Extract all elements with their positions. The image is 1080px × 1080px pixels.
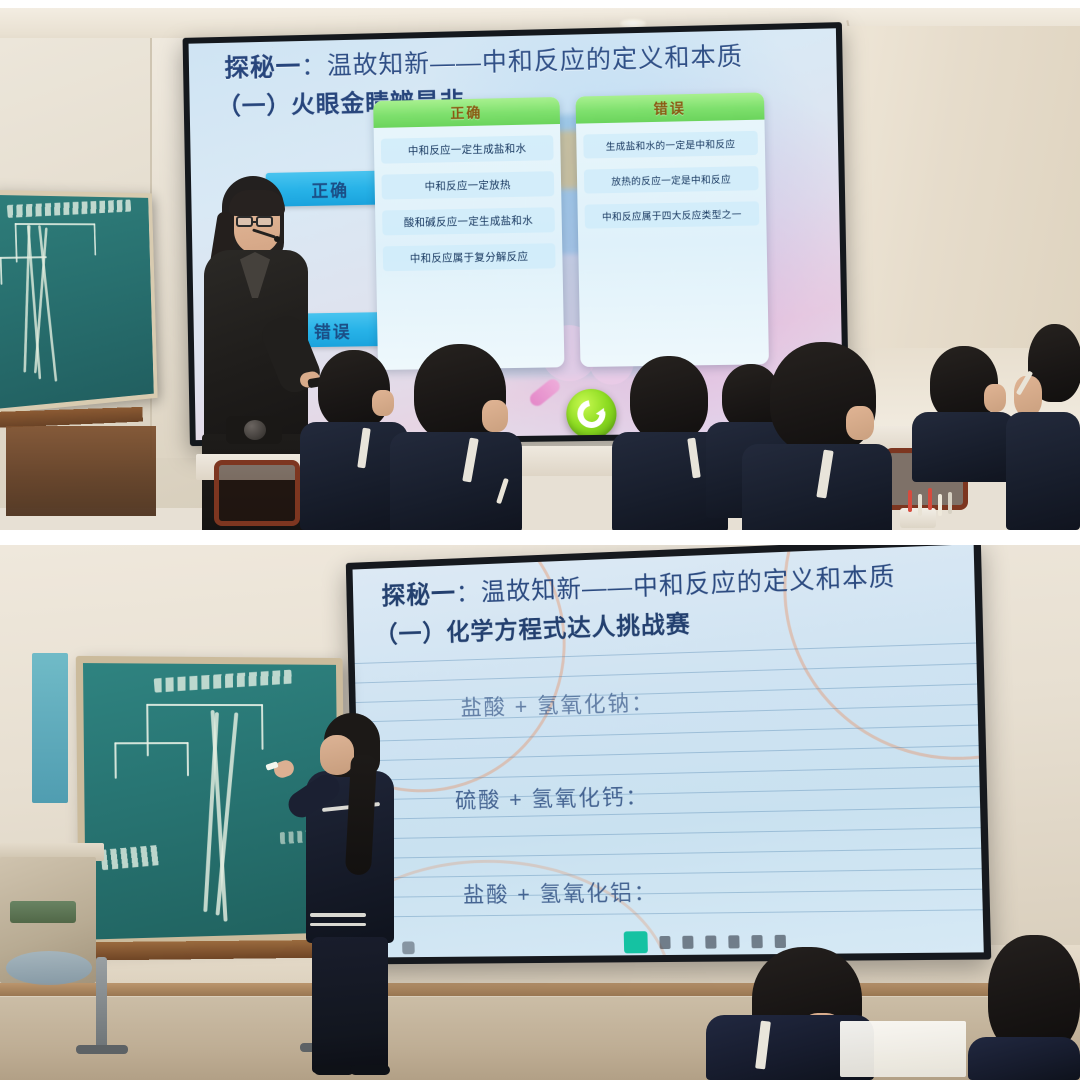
student-head [630,356,708,442]
microphone-tip [274,236,280,242]
basin [6,951,92,985]
panel-item[interactable]: 中和反应属于四大反应类型之一 [585,201,760,228]
baseboard [0,983,1080,996]
chalk-line [146,704,263,706]
student-shoe [314,1065,354,1075]
student-shoe [350,1065,390,1075]
chalk-label [101,845,161,870]
pen-tool-icon[interactable] [659,935,670,948]
student-at-board [292,713,410,1073]
photo-top-classroom: 探秘一：温故知新——中和反应的定义和本质 （一）火眼金睛辨是非 正确 错误 正确… [0,8,1080,530]
slide-canvas: 探秘一：温故知新——中和反应的定义和本质 （一）化学方程式达人挑战赛 盐酸 + … [353,545,984,958]
slide-title-rest: ：温故知新——中和反应的定义和本质 [301,43,743,81]
blackboard-top [0,190,158,414]
panel-header-wrong: 错误 [576,92,765,123]
select-tool-icon[interactable] [624,931,648,953]
belt-buckle [244,420,266,440]
chalk-line [0,257,2,285]
student-face [372,390,394,416]
top-white-margin [0,0,1080,8]
equation-prompt: 硫酸 + 氢氧化钙： [455,779,650,815]
pen [908,490,912,512]
jacket-stripe [310,923,366,926]
glasses-bridge [253,221,258,223]
eraser-tool-icon[interactable] [705,935,716,948]
chalk-line [114,742,188,744]
shape-tool-icon[interactable] [682,935,693,948]
answer-panel-correct[interactable]: 正确 中和反应一定生成盐和水 中和反应一定放热 酸和碱反应一定生成盐和水 中和反… [373,97,564,370]
chalk-line [114,742,116,778]
board-stand [6,426,156,516]
student-uniform [1006,412,1080,530]
student-face [846,406,874,440]
panel-item[interactable]: 中和反应一定放热 [381,171,554,199]
photo-collage: 探秘一：温故知新——中和反应的定义和本质 （一）火眼金睛辨是非 正确 错误 正确… [0,0,1080,1080]
slide-title: 探秘一：温故知新——中和反应的定义和本质 [224,41,824,84]
rule-line [359,848,981,859]
student-hand [1014,376,1042,416]
slide-title-emphasis: 探秘一 [381,580,456,610]
interactive-display-bottom[interactable]: 探秘一：温故知新——中和反应的定义和本质 （一）化学方程式达人挑战赛 盐酸 + … [346,545,991,964]
student-face [482,400,508,432]
save-tool-icon[interactable] [775,934,786,947]
pen [928,488,932,510]
student-face [984,384,1006,412]
panel-item[interactable]: 放热的反应一定是中和反应 [584,166,759,194]
chalk-line [261,704,263,750]
student-uniform [912,412,1016,482]
pen [938,494,942,516]
panel-item[interactable]: 酸和碱反应一定生成盐和水 [382,207,555,235]
chalk-heading [154,670,293,693]
equation-prompt: 盐酸 + 氢氧化钠： [460,685,655,722]
panel-item[interactable]: 中和反应属于复分解反应 [383,243,556,271]
panel-item[interactable]: 中和反应一定生成盐和水 [381,135,554,164]
board-foot [76,1045,128,1054]
chalk-heading [7,199,131,217]
slide-title-emphasis: 探秘一 [224,53,301,83]
student-uniform [968,1037,1080,1080]
refresh-arrow-icon [572,394,611,433]
chalk-line [187,742,189,776]
chalk-line [146,704,149,756]
wall-right [830,26,1080,366]
chalk-line [94,223,97,255]
undo-tool-icon[interactable] [728,935,739,948]
chalk-line [0,256,47,259]
student-face [320,735,354,775]
student-trousers [312,937,388,1073]
equation-prompt: 盐酸 + 氢氧化铝： [463,875,658,909]
rule-line [359,827,981,839]
jacket-stripe [310,913,366,917]
board-leg [96,957,107,1049]
reset-icon[interactable] [566,389,617,440]
glasses-icon [236,216,253,227]
answer-panel-wrong[interactable]: 错误 生成盐和水的一定是中和反应 放热的反应一定是中和反应 中和反应属于四大反应… [576,92,769,367]
panel-header-correct: 正确 [373,97,560,128]
paper [840,1021,966,1077]
settings-tool-icon[interactable] [751,935,762,948]
rule-line [358,807,980,820]
photo-bottom-classroom: 探秘一：温故知新——中和反应的定义和本质 （一）化学方程式达人挑战赛 盐酸 + … [0,545,1080,1080]
pen [918,494,922,516]
wall-poster [32,653,68,803]
cabinet-item [10,901,76,923]
photo-divider [0,530,1080,545]
test-tube-icon [527,376,562,408]
glasses-icon [256,216,273,227]
pen [948,492,952,514]
teacher-fringe [229,190,285,216]
panel-item[interactable]: 生成盐和水的一定是中和反应 [583,131,758,159]
chair [214,460,300,526]
